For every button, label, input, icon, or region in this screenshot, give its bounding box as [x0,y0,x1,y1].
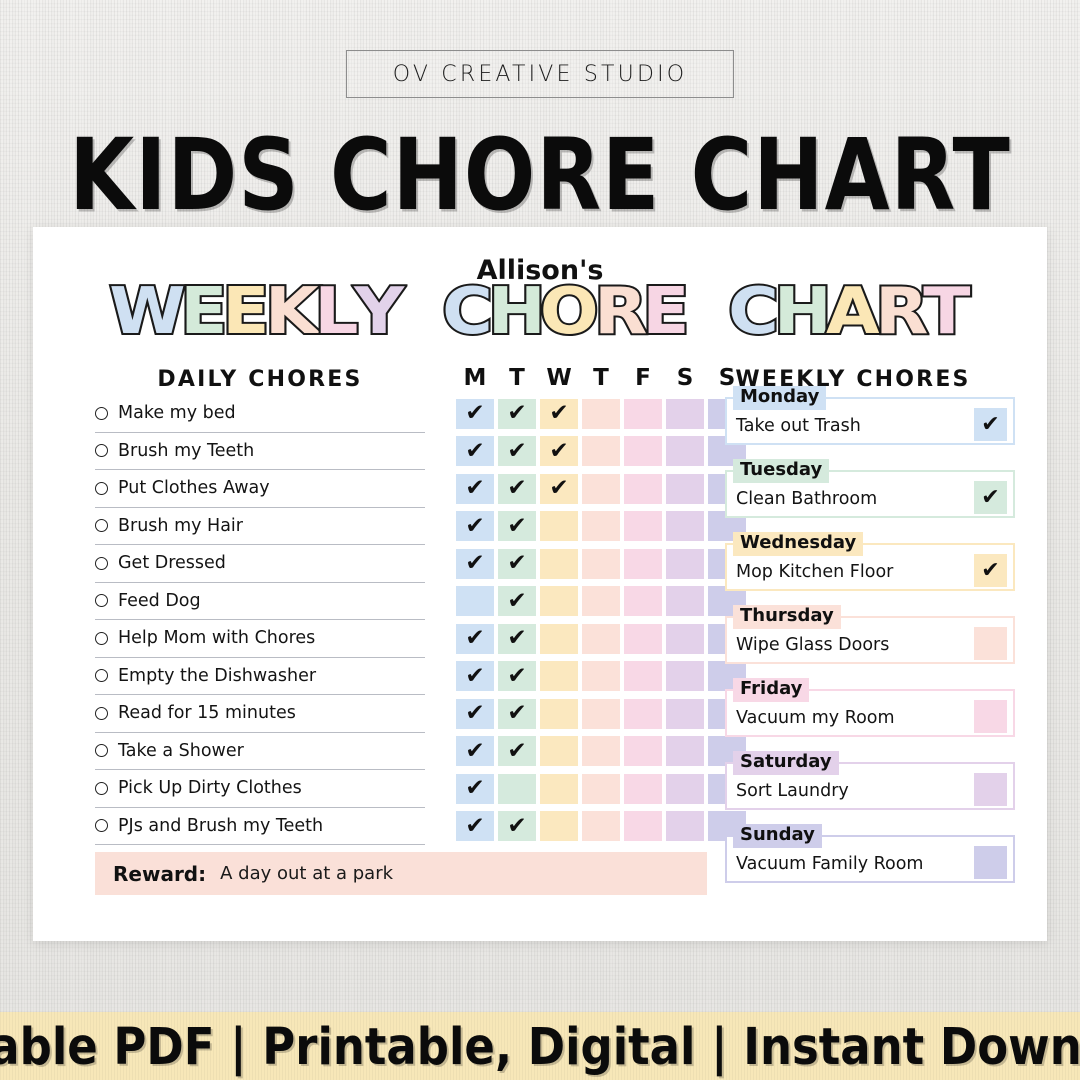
daily-chore-label: Brush my Hair [118,516,243,536]
bubble-title: WEEKLYCHORECHART [33,275,1047,349]
bubble-title-letter: E [180,275,226,349]
weekly-task-label: Clean Bathroom [736,489,877,509]
weekly-day-label: Friday [733,678,809,702]
daily-chore-label: Get Dressed [118,553,226,573]
grid-cell-empty[interactable] [540,624,578,654]
weekly-chore-card[interactable]: ThursdayWipe Glass Doors [725,616,1015,664]
chore-checkbox-circle-icon[interactable] [95,482,108,495]
daily-chore-label: Take a Shower [118,741,244,761]
grid-cell-empty[interactable] [582,586,620,616]
banner-text: Editable PDF | Printable, Digital | Inst… [0,1016,1080,1075]
grid-cell-empty[interactable] [456,586,494,616]
daily-chore-label: Pick Up Dirty Clothes [118,778,302,798]
grid-cell-empty[interactable] [666,511,704,541]
check-icon[interactable]: ✔ [974,408,1007,441]
weekly-checkbox-empty[interactable] [974,627,1007,660]
grid-row: ✔ [456,770,746,808]
day-letter-2: W [540,365,578,391]
grid-cell-empty[interactable] [666,774,704,804]
grid-cell-empty[interactable] [540,736,578,766]
chore-checkbox-circle-icon[interactable] [95,744,108,757]
brand-name: OV CREATIVE STUDIO [393,62,688,87]
check-icon[interactable]: ✔ [498,699,536,729]
grid-row: ✔✔ [456,508,746,546]
grid-cell-empty[interactable] [624,661,662,691]
bubble-title-letter: Y [354,275,403,349]
grid-cell-empty[interactable] [666,699,704,729]
check-icon[interactable]: ✔ [456,399,494,429]
day-letter-0: M [456,365,494,391]
bubble-title-letter: C [728,275,778,349]
weekly-task-label: Wipe Glass Doors [736,635,889,655]
grid-cell-empty[interactable] [582,661,620,691]
day-letter-header-row: MTWTFSS [456,365,746,391]
weekly-chore-card[interactable]: TuesdayClean Bathroom✔ [725,470,1015,518]
child-name: Allison's [33,255,1047,286]
grid-row: ✔✔ [456,545,746,583]
check-icon[interactable]: ✔ [456,736,494,766]
grid-cell-empty[interactable] [540,511,578,541]
bubble-title-word: WEEKLY [112,275,401,349]
grid-cell-empty[interactable] [624,511,662,541]
bubble-title-letter: T [923,275,969,349]
check-icon[interactable]: ✔ [498,586,536,616]
check-icon[interactable]: ✔ [456,661,494,691]
grid-cell-empty[interactable] [582,399,620,429]
grid-cell-empty[interactable] [666,811,704,841]
daily-chore-row[interactable]: Feed Dog [95,583,425,621]
check-icon[interactable]: ✔ [498,511,536,541]
bubble-title-letter: E [223,275,269,349]
daily-chore-row[interactable]: Empty the Dishwasher [95,658,425,696]
weekly-chore-card[interactable]: WednesdayMop Kitchen Floor✔ [725,543,1015,591]
grid-row: ✔✔ [456,695,746,733]
weekly-task-label: Vacuum my Room [736,708,895,728]
daily-chores-heading: DAILY CHORES [95,367,425,392]
grid-cell-empty[interactable] [582,436,620,466]
weekly-task-label: Mop Kitchen Floor [736,562,893,582]
check-icon[interactable]: ✔ [498,736,536,766]
chore-checkbox-circle-icon[interactable] [95,557,108,570]
page-title: KIDS CHORE CHART [0,117,1080,233]
weekly-checkbox-empty[interactable] [974,846,1007,879]
grid-cell-empty[interactable] [540,811,578,841]
daily-chore-row[interactable]: Brush my Teeth [95,433,425,471]
grid-cell-empty[interactable] [540,774,578,804]
daily-chores-list: Make my bedBrush my TeethPut Clothes Awa… [95,395,425,845]
chore-checkbox-circle-icon[interactable] [95,782,108,795]
chore-checkbox-circle-icon[interactable] [95,519,108,532]
brand-box: OV CREATIVE STUDIO [346,50,734,98]
grid-cell-empty[interactable] [666,474,704,504]
weekly-chore-card[interactable]: MondayTake out Trash✔ [725,397,1015,445]
grid-cell-empty[interactable] [624,624,662,654]
grid-cell-empty[interactable] [666,399,704,429]
weekly-chore-card[interactable]: SaturdaySort Laundry [725,762,1015,810]
check-icon[interactable]: ✔ [456,624,494,654]
grid-cell-empty[interactable] [624,586,662,616]
daily-chore-row[interactable]: Take a Shower [95,733,425,771]
grid-cell-empty[interactable] [624,699,662,729]
bubble-title-letter: R [875,275,927,349]
check-icon[interactable]: ✔ [974,481,1007,514]
daily-chore-row[interactable]: Make my bed [95,395,425,433]
weekly-task-label: Sort Laundry [736,781,849,801]
grid-cell-empty[interactable] [666,436,704,466]
bottom-banner: Editable PDF | Printable, Digital | Inst… [0,1012,1080,1080]
grid-row: ✔✔ [456,808,746,846]
grid-cell-empty[interactable] [498,774,536,804]
reward-value[interactable]: A day out at a park [220,863,393,884]
grid-row: ✔ [456,583,746,621]
chore-checkbox-circle-icon[interactable] [95,444,108,457]
weekly-day-label: Sunday [733,824,822,848]
weekly-checkbox-empty[interactable] [974,773,1007,806]
check-icon[interactable]: ✔ [456,511,494,541]
grid-cell-empty[interactable] [540,586,578,616]
bubble-title-word: CHART [730,275,968,349]
daily-chore-label: Feed Dog [118,591,201,611]
grid-cell-empty[interactable] [666,661,704,691]
check-icon[interactable]: ✔ [498,811,536,841]
grid-row: ✔✔ [456,733,746,771]
weekly-day-label: Wednesday [733,532,863,556]
grid-cell-empty[interactable] [540,699,578,729]
grid-cell-empty[interactable] [582,624,620,654]
daily-chore-label: Make my bed [118,403,236,423]
day-letter-3: T [582,365,620,391]
check-icon[interactable]: ✔ [456,811,494,841]
weekly-day-label: Thursday [733,605,841,629]
check-icon[interactable]: ✔ [498,549,536,579]
grid-row: ✔✔✔ [456,433,746,471]
grid-cell-empty[interactable] [582,549,620,579]
weekly-checkbox-empty[interactable] [974,700,1007,733]
chore-checkbox-circle-icon[interactable] [95,669,108,682]
daily-chore-label: Put Clothes Away [118,478,270,498]
check-icon[interactable]: ✔ [456,774,494,804]
grid-row: ✔✔✔ [456,395,746,433]
daily-chore-row[interactable]: Pick Up Dirty Clothes [95,770,425,808]
chore-checkbox-circle-icon[interactable] [95,819,108,832]
check-icon[interactable]: ✔ [540,474,578,504]
chore-chart-card: Allison's WEEKLYCHORECHART DAILY CHORES … [33,227,1047,941]
reward-bar[interactable]: Reward: A day out at a park [95,852,707,895]
day-letter-4: F [624,365,662,391]
bubble-title-letter: L [314,275,357,349]
grid-cell-empty[interactable] [582,511,620,541]
weekly-day-label: Monday [733,386,826,410]
grid-cell-empty[interactable] [624,474,662,504]
check-icon[interactable]: ✔ [456,436,494,466]
check-icon[interactable]: ✔ [456,699,494,729]
reward-label: Reward: [113,862,206,886]
daily-chore-row[interactable]: Help Mom with Chores [95,620,425,658]
bubble-title-letter: C [442,275,492,349]
day-letter-1: T [498,365,536,391]
grid-cell-empty[interactable] [624,549,662,579]
check-icon[interactable]: ✔ [498,436,536,466]
bubble-title-letter: A [826,275,878,349]
check-icon[interactable]: ✔ [974,554,1007,587]
weekly-chore-card[interactable]: FridayVacuum my Room [725,689,1015,737]
chore-checkbox-circle-icon[interactable] [95,594,108,607]
grid-cell-empty[interactable] [582,474,620,504]
bubble-title-letter: O [540,275,598,349]
check-icon[interactable]: ✔ [498,474,536,504]
grid-cell-empty[interactable] [666,549,704,579]
weekly-chores-list: MondayTake out Trash✔TuesdayClean Bathro… [725,397,1015,908]
grid-cell-empty[interactable] [666,736,704,766]
bubble-title-letter: R [594,275,646,349]
grid-cell-empty[interactable] [624,399,662,429]
bubble-title-word: CHORE [444,275,687,349]
bubble-title-letter: K [265,275,317,349]
grid-cell-empty[interactable] [540,549,578,579]
weekly-day-label: Tuesday [733,459,829,483]
check-icon[interactable]: ✔ [540,399,578,429]
daily-chore-row[interactable]: PJs and Brush my Teeth [95,808,425,846]
daily-chore-row[interactable]: Put Clothes Away [95,470,425,508]
daily-chore-row[interactable]: Brush my Hair [95,508,425,546]
grid-cell-empty[interactable] [582,699,620,729]
daily-chore-label: Brush my Teeth [118,441,254,461]
grid-cell-empty[interactable] [582,774,620,804]
grid-cell-empty[interactable] [624,436,662,466]
grid-cell-empty[interactable] [666,624,704,654]
daily-check-grid[interactable]: ✔✔✔✔✔✔✔✔✔✔✔✔✔✔✔✔✔✔✔✔✔✔✔✔✔ [456,395,746,845]
daily-chore-label: PJs and Brush my Teeth [118,816,323,836]
grid-cell-empty[interactable] [624,811,662,841]
bubble-title-letter: H [488,275,545,349]
weekly-task-label: Take out Trash [736,416,861,436]
weekly-day-label: Saturday [733,751,839,775]
check-icon[interactable]: ✔ [456,474,494,504]
day-letter-5: S [666,365,704,391]
grid-cell-empty[interactable] [582,736,620,766]
daily-chore-label: Empty the Dishwasher [118,666,316,686]
grid-cell-empty[interactable] [582,811,620,841]
weekly-task-label: Vacuum Family Room [736,854,923,874]
grid-row: ✔✔✔ [456,470,746,508]
grid-cell-empty[interactable] [624,736,662,766]
chore-checkbox-circle-icon[interactable] [95,632,108,645]
grid-cell-empty[interactable] [666,586,704,616]
weekly-chore-card[interactable]: SundayVacuum Family Room [725,835,1015,883]
grid-cell-empty[interactable] [624,774,662,804]
daily-chore-label: Help Mom with Chores [118,628,315,648]
check-icon[interactable]: ✔ [498,399,536,429]
daily-chore-label: Read for 15 minutes [118,703,296,723]
check-icon[interactable]: ✔ [498,624,536,654]
bubble-title-letter: W [109,275,184,349]
check-icon[interactable]: ✔ [456,549,494,579]
chore-checkbox-circle-icon[interactable] [95,407,108,420]
daily-chore-row[interactable]: Read for 15 minutes [95,695,425,733]
bubble-title-letter: H [774,275,831,349]
grid-row: ✔✔ [456,658,746,696]
chore-checkbox-circle-icon[interactable] [95,707,108,720]
check-icon[interactable]: ✔ [498,661,536,691]
grid-row: ✔✔ [456,620,746,658]
daily-chore-row[interactable]: Get Dressed [95,545,425,583]
grid-cell-empty[interactable] [540,661,578,691]
check-icon[interactable]: ✔ [540,436,578,466]
bubble-title-letter: E [642,275,688,349]
